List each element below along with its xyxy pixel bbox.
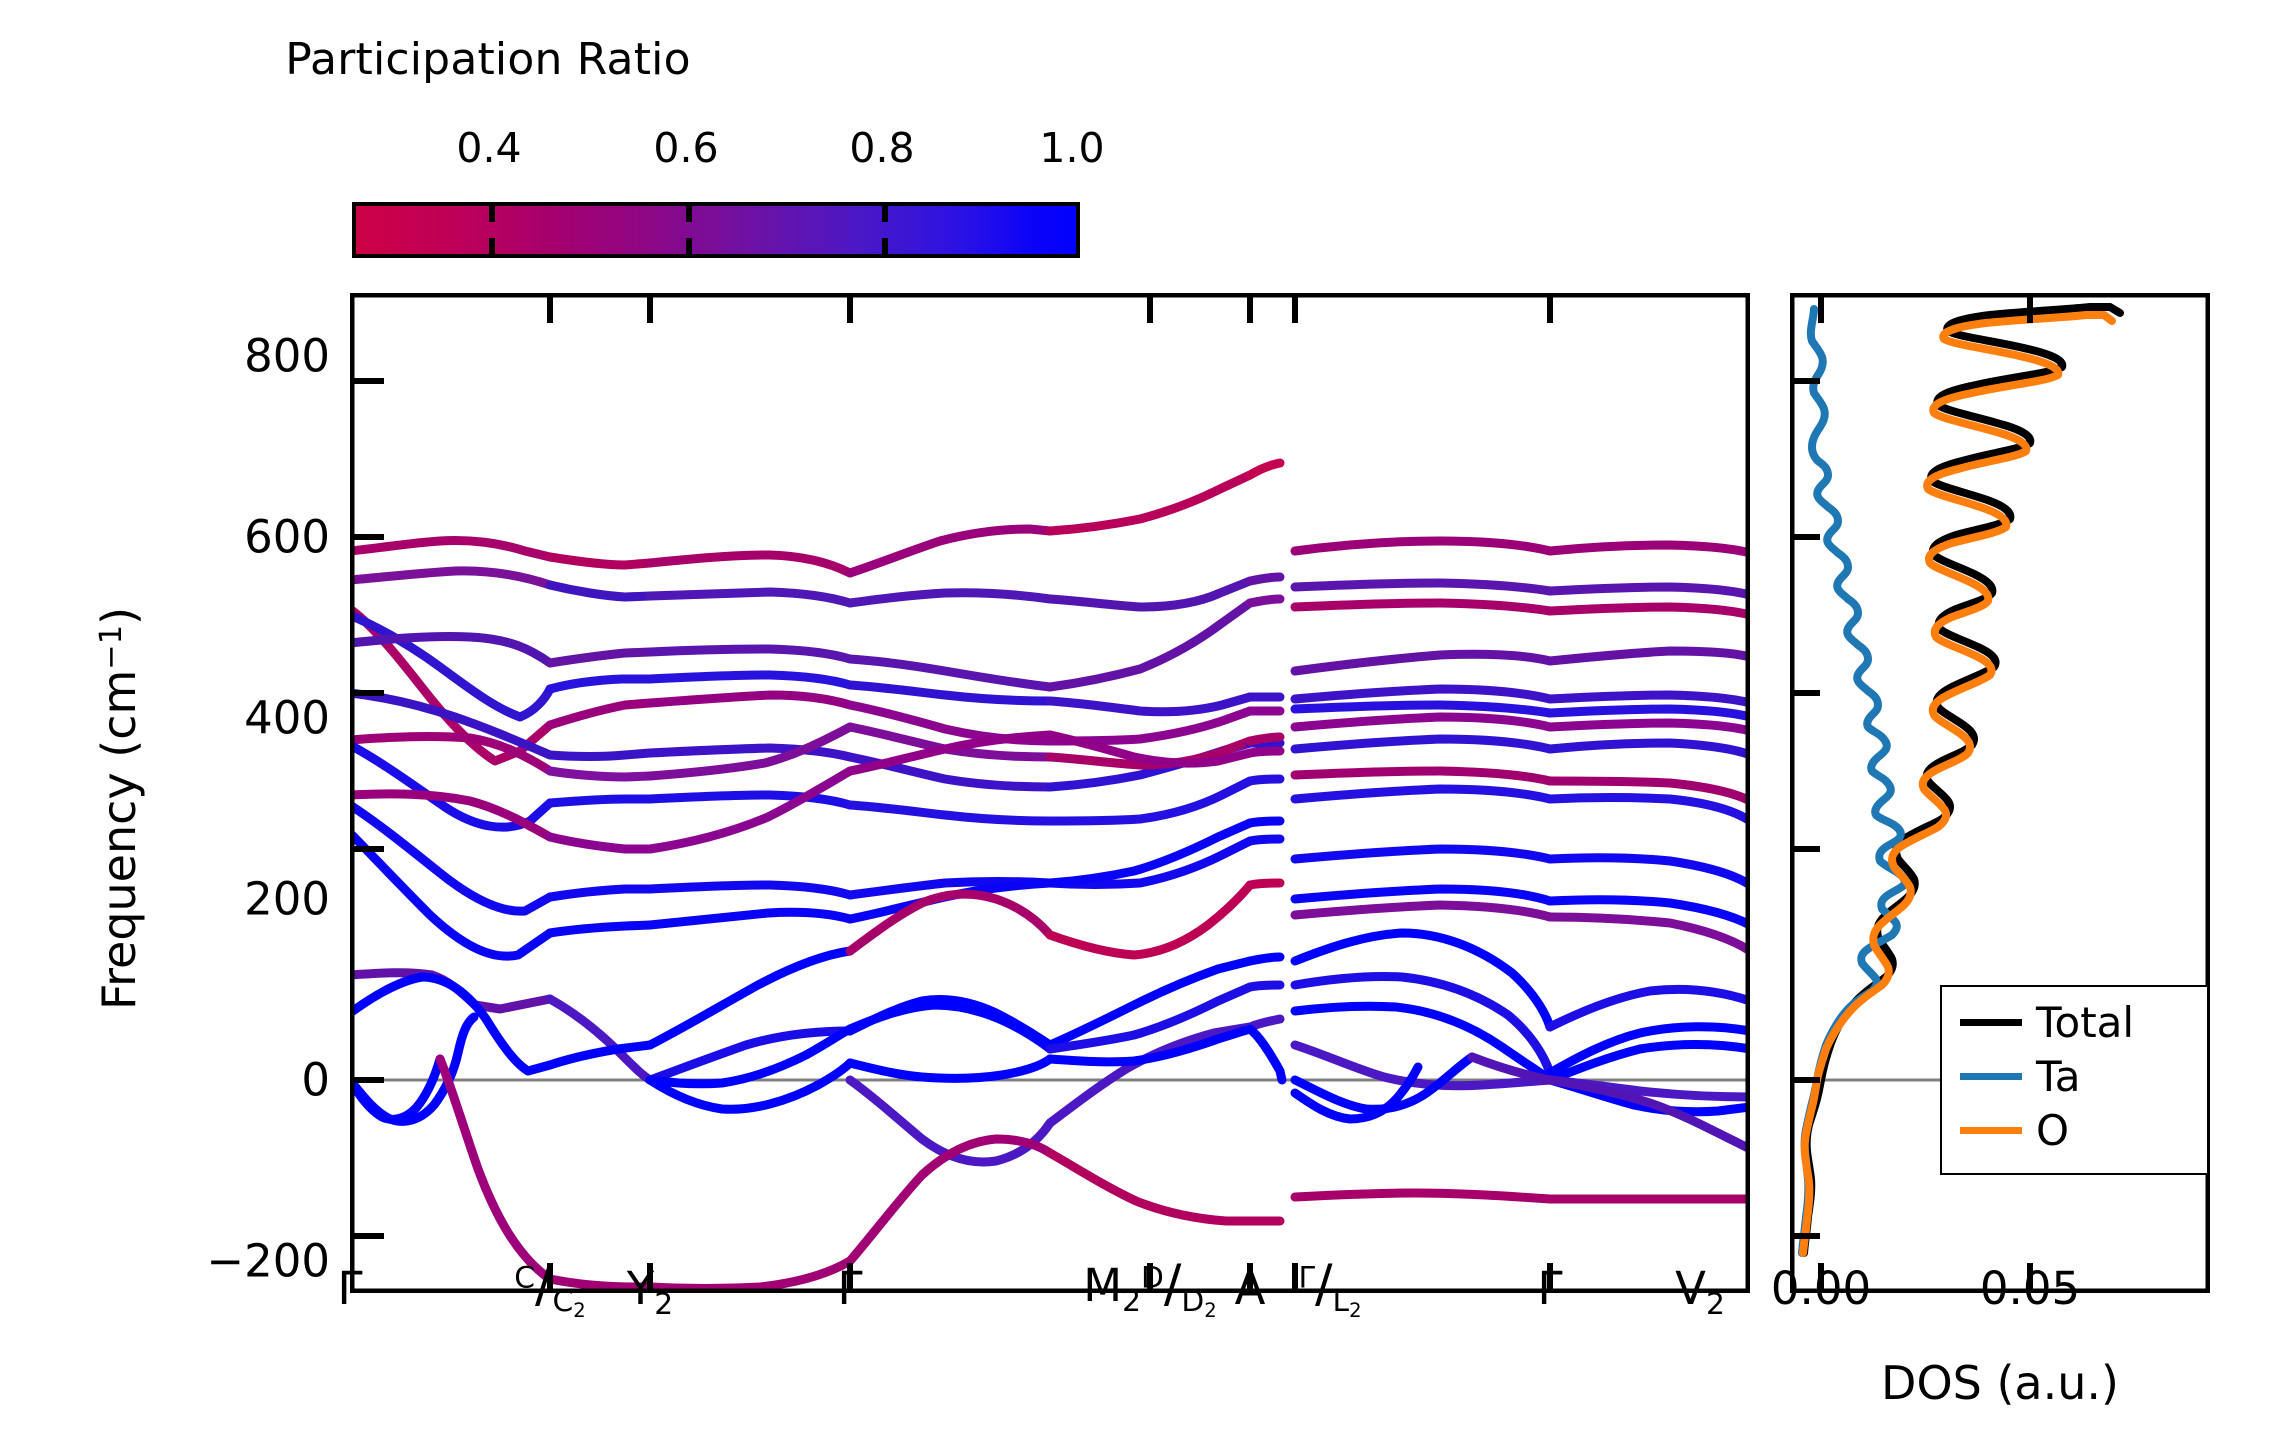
colorbar-gradient — [352, 202, 1080, 258]
y-tick-label-800: 800 — [244, 334, 330, 379]
y-tick-label-400: 400 — [244, 696, 330, 741]
x-tick-label-gamma-l2: Γ/L2 — [1298, 1258, 1361, 1321]
x-tick-label-gamma-2: Γ — [837, 1266, 862, 1311]
y-tick-label-600: 600 — [244, 515, 330, 560]
x-tick-label-m2-d-d2: M2D/D2 — [1083, 1258, 1216, 1321]
colorbar-tick-0: 0.4 — [456, 128, 521, 169]
x-tick-label-c-c2: C/C2 — [514, 1258, 585, 1321]
legend-label-ta: Ta — [2036, 1052, 2080, 1101]
y-tick-label-200: 200 — [244, 877, 330, 922]
colorbar-tick-mark-2b — [882, 238, 888, 258]
dos-x-tick-label-0: 0.00 — [1771, 1266, 1871, 1311]
legend-swatch-ta — [1960, 1073, 2022, 1080]
dos-x-tick-label-1: 0.05 — [1980, 1266, 2080, 1311]
x-tick-label-gamma-3: Γ — [1537, 1266, 1562, 1311]
x-tick-label-v2: V2 — [1675, 1266, 1725, 1320]
colorbar-panel: Participation Ratio 0.4 0.6 0.8 1.0 — [0, 0, 1100, 270]
legend-swatch-total — [1960, 1019, 2022, 1026]
legend-item-ta: Ta — [1942, 1049, 2207, 1103]
x-tick-label-a: A — [1235, 1266, 1266, 1311]
colorbar-tick-mark-0 — [489, 202, 495, 222]
colorbar-tick-mark-2 — [882, 202, 888, 222]
colorbar-tick-2: 0.8 — [849, 128, 914, 169]
legend-item-o: O — [1942, 1103, 2207, 1157]
colorbar-tick-mark-0b — [489, 238, 495, 258]
legend-label-o: O — [2036, 1106, 2069, 1155]
legend-label-total: Total — [2036, 998, 2134, 1047]
dos-x-axis-label: DOS (a.u.) — [1881, 1360, 2119, 1406]
colorbar-tick-1: 0.6 — [653, 128, 718, 169]
y-tick-label-neg200: −200 — [206, 1239, 330, 1284]
legend-item-total: Total — [1942, 995, 2207, 1049]
dos-legend: Total Ta O — [1940, 985, 2209, 1175]
legend-swatch-o — [1960, 1127, 2022, 1134]
y-tick-label-0: 0 — [301, 1058, 330, 1103]
colorbar-tick-mark-1b — [686, 238, 692, 258]
band-structure-plot — [350, 293, 1750, 1293]
colorbar-tick-3: 1.0 — [1039, 128, 1104, 169]
x-tick-label-gamma-1: Γ — [337, 1266, 362, 1311]
colorbar-tick-mark-1 — [686, 202, 692, 222]
colorbar-title: Participation Ratio — [285, 38, 690, 82]
x-tick-label-y2: Y2 — [627, 1266, 673, 1320]
